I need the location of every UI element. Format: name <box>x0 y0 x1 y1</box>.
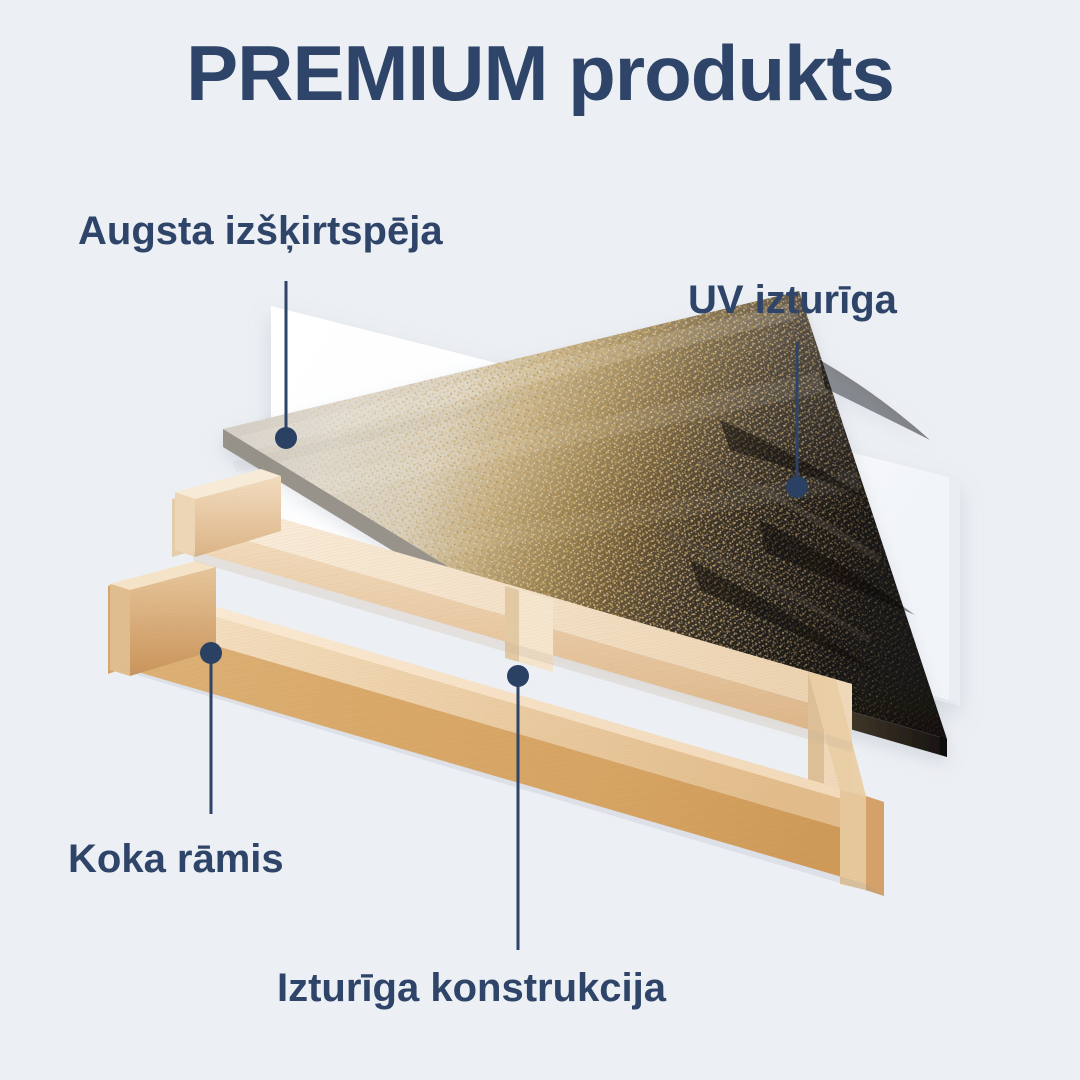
callout-label-uv-resistant: UV izturīga <box>688 279 897 321</box>
page-title: PREMIUM produkts <box>0 34 1080 112</box>
page-title-text: PREMIUM produkts <box>186 29 894 117</box>
leader-frame <box>200 642 222 814</box>
callout-leader-lines <box>0 0 1080 1080</box>
callout-label-high-resolution: Augsta izšķirtspēja <box>78 210 443 252</box>
infographic-canvas: PREMIUM produkts Augsta izšķirtspēja UV … <box>0 0 1080 1080</box>
leader-uv <box>786 342 808 498</box>
callout-label-wooden-frame: Koka rāmis <box>68 838 284 880</box>
callout-label-durable-construction: Izturīga konstrukcija <box>277 967 666 1009</box>
leader-construction <box>507 665 529 950</box>
leader-resolution <box>275 281 297 449</box>
